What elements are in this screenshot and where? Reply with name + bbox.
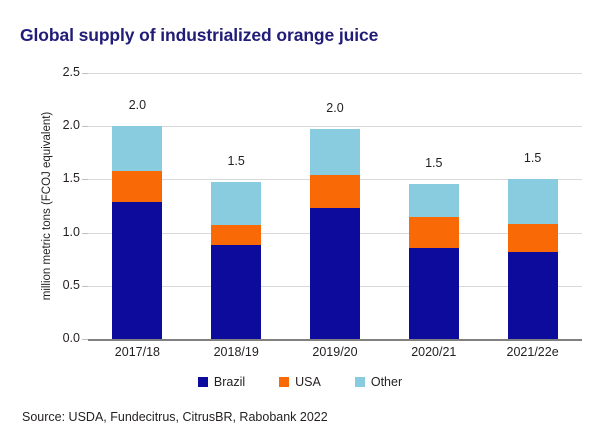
bar-group[interactable] [211,73,261,339]
bar-segment-other[interactable] [112,126,162,171]
bar-segment-usa[interactable] [112,171,162,202]
y-axis-title: million metric tons (FCOJ equivalent) [41,71,53,341]
x-axis-tick-label: 2020/21 [379,345,489,359]
x-axis-tick-label: 2018/19 [181,345,291,359]
bar-segment-other[interactable] [409,184,459,217]
bar-total-label: 1.5 [196,154,276,168]
legend-label: Brazil [214,375,245,389]
x-axis-tick-label: 2017/18 [82,345,192,359]
bar-group[interactable] [409,73,459,339]
x-axis-tick-label: 2019/20 [280,345,390,359]
bar-group[interactable] [112,73,162,339]
bar-segment-brazil[interactable] [211,245,261,339]
legend-item-usa[interactable]: USA [279,375,321,389]
bar-segment-brazil[interactable] [310,208,360,339]
legend-item-brazil[interactable]: Brazil [198,375,245,389]
bar-segment-brazil[interactable] [409,248,459,340]
y-axis-tick-label: 0.5 [20,278,80,292]
y-axis-tick-label: 1.0 [20,225,80,239]
y-axis-tick-mark [82,233,88,234]
bar-total-label: 1.5 [394,156,474,170]
legend-swatch-usa-icon [279,377,289,387]
bar-segment-brazil[interactable] [112,202,162,339]
bar-segment-usa[interactable] [508,224,558,252]
legend-swatch-brazil-icon [198,377,208,387]
bar-group[interactable] [508,73,558,339]
bar-stack [409,73,459,339]
y-axis-tick-label: 2.0 [20,118,80,132]
y-axis-tick-label: 0.0 [20,331,80,345]
legend-item-other[interactable]: Other [355,375,402,389]
y-axis-tick-mark [82,126,88,127]
bar-total-label: 2.0 [295,101,375,115]
legend-swatch-other-icon [355,377,365,387]
bar-total-label: 2.0 [97,98,177,112]
bar-stack [508,73,558,339]
source-note: Source: USDA, Fundecitrus, CitrusBR, Rab… [22,410,328,424]
y-axis-tick-label: 1.5 [20,171,80,185]
bar-segment-usa[interactable] [211,225,261,245]
bar-total-label: 1.5 [493,151,573,165]
bar-segment-other[interactable] [310,129,360,175]
bar-segment-usa[interactable] [409,217,459,248]
x-axis-line [88,339,582,341]
legend-label: USA [295,375,321,389]
bar-segment-usa[interactable] [310,175,360,208]
legend: BrazilUSAOther [0,375,600,389]
y-axis-tick-mark [82,286,88,287]
bar-stack [112,73,162,339]
legend-label: Other [371,375,402,389]
bar-segment-brazil[interactable] [508,252,558,339]
chart-figure: Global supply of industrialized orange j… [0,0,600,443]
page-title: Global supply of industrialized orange j… [20,25,378,46]
y-axis-tick-mark [82,73,88,74]
bar-segment-other[interactable] [508,179,558,224]
y-axis-tick-label: 2.5 [20,65,80,79]
bar-segment-other[interactable] [211,182,261,226]
y-axis-tick-mark [82,179,88,180]
x-axis-tick-label: 2021/22e [478,345,588,359]
bar-stack [211,73,261,339]
